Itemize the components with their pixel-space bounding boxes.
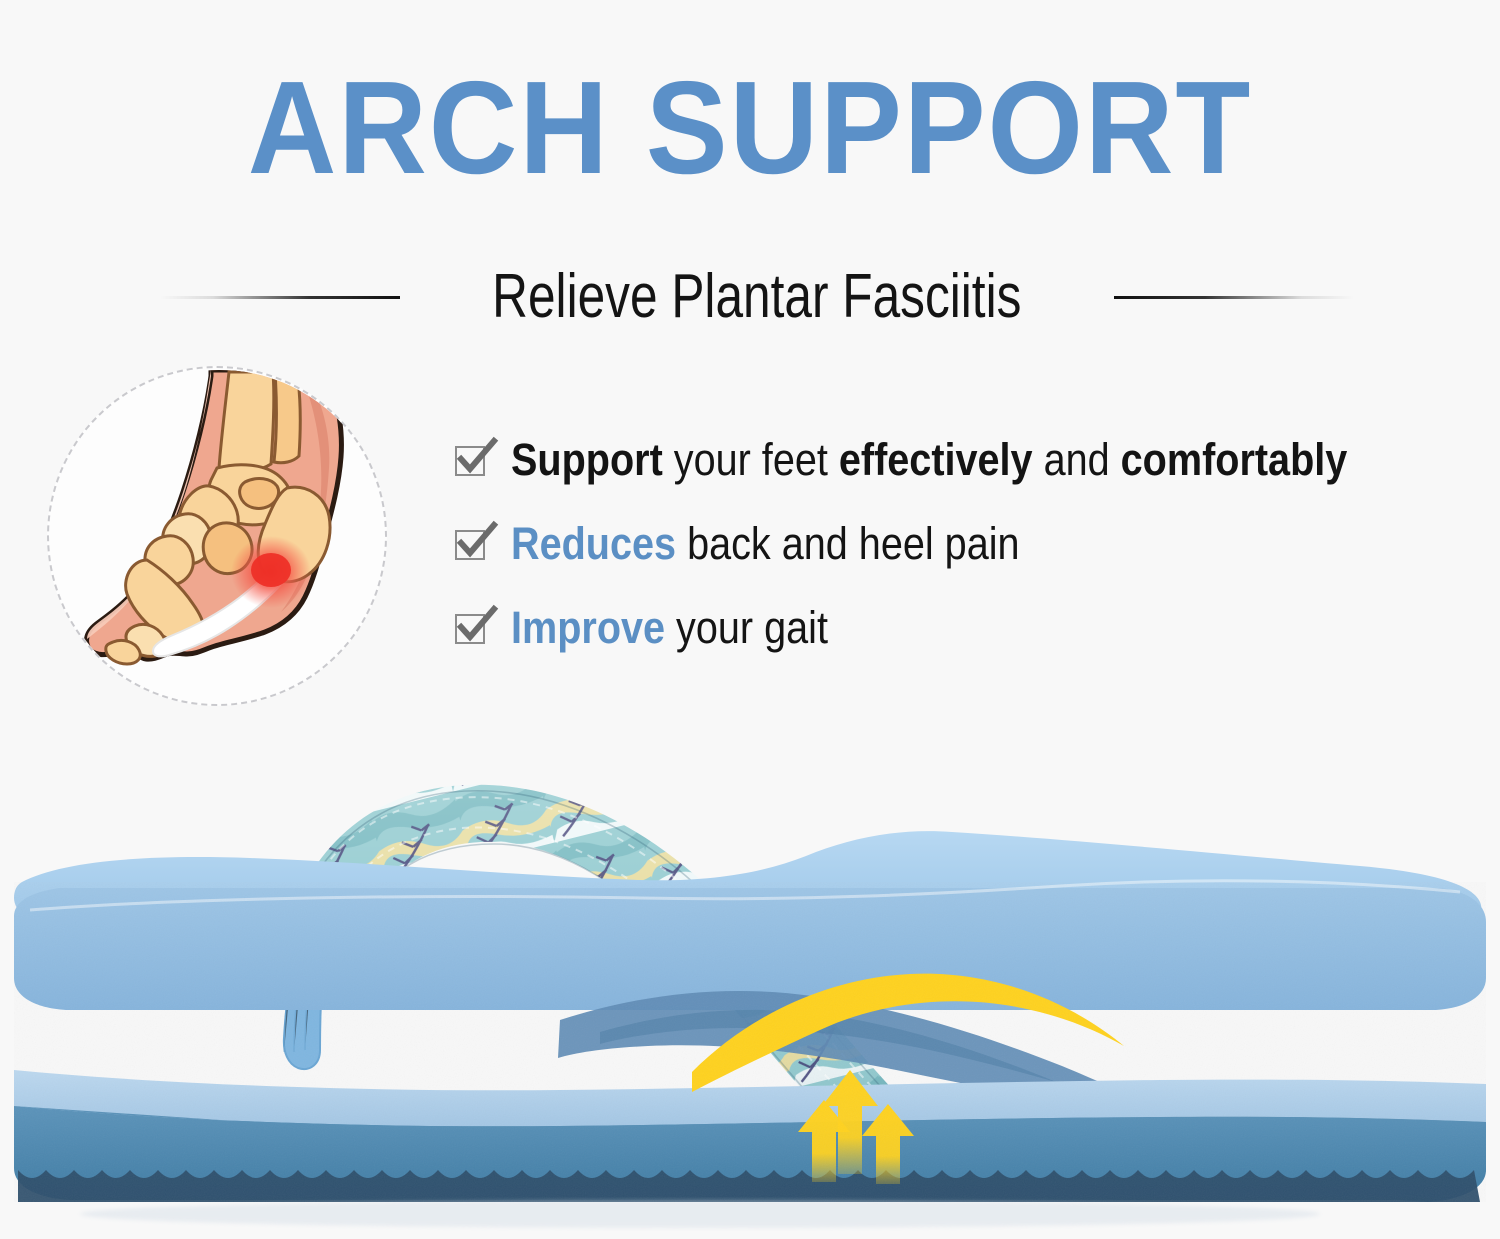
benefit-item-support[interactable]: Support your feet effectively and comfor…: [455, 434, 1465, 518]
subtitle-row: Relieve Plantar Fasciitis: [0, 258, 1500, 336]
sandal-illustration: [0, 752, 1500, 1234]
benefit-kw-improve: Improve: [511, 602, 665, 653]
benefit-plain-4: your gait: [665, 602, 828, 653]
benefit-plain-2: and: [1033, 434, 1121, 485]
check-icon: [454, 519, 500, 565]
benefit-kw-support: Support: [511, 434, 663, 485]
checkbox-checked-icon[interactable]: [455, 530, 487, 562]
product-image-sandal: [0, 752, 1500, 1234]
check-icon: [454, 435, 500, 481]
benefit-text-improve: Improve your gait: [511, 602, 828, 654]
benefit-text-reduces: Reduces back and heel pain: [511, 518, 1020, 570]
checkbox-checked-icon[interactable]: [455, 614, 487, 646]
benefit-item-improve[interactable]: Improve your gait: [455, 602, 1465, 686]
benefit-item-reduces[interactable]: Reduces back and heel pain: [455, 518, 1465, 602]
foot-anatomy-circle: [47, 366, 387, 706]
benefit-plain-1: your feet: [663, 434, 839, 485]
foot-anatomy-icon: [43, 364, 395, 714]
infographic-canvas: ARCH SUPPORT Relieve Plantar Fasciitis: [0, 0, 1500, 1234]
page-subtitle: Relieve Plantar Fasciitis: [492, 266, 1021, 328]
benefit-kw-effectively: effectively: [839, 434, 1033, 485]
divider-line-right: [1114, 296, 1354, 299]
benefit-list: Support your feet effectively and comfor…: [455, 434, 1465, 686]
benefit-kw-comfortably: comfortably: [1121, 434, 1348, 485]
benefit-text-support: Support your feet effectively and comfor…: [511, 434, 1347, 486]
benefit-plain-3: back and heel pain: [676, 518, 1019, 569]
checkbox-checked-icon[interactable]: [455, 446, 487, 478]
benefit-kw-reduces: Reduces: [511, 518, 676, 569]
check-icon: [454, 603, 500, 649]
page-title: ARCH SUPPORT: [53, 62, 1448, 194]
divider-line-left: [160, 296, 400, 299]
